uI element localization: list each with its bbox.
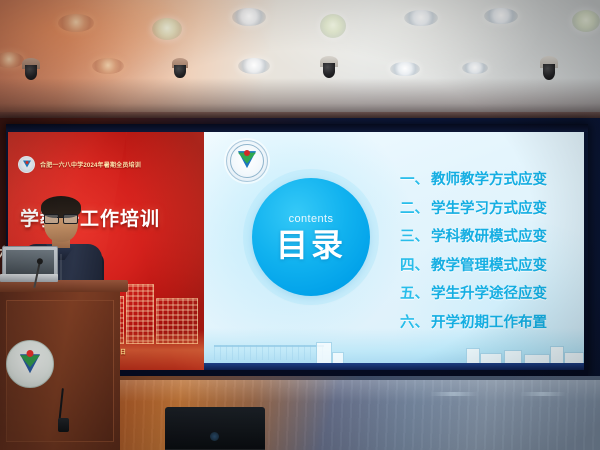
red-slide-header-text: 合肥一六八中学2024年暑期全员培训 <box>40 160 141 169</box>
ceiling-light <box>462 62 488 74</box>
agenda-item-text: 教学管理模式应变 <box>431 254 547 275</box>
agenda-item-text: 学科教研模式应变 <box>431 225 547 246</box>
red-slide-header: 合肥一六八中学2024年暑期全员培训 <box>18 156 141 173</box>
floor-reflection <box>520 392 566 396</box>
school-emblem-icon <box>226 140 268 182</box>
agenda-item-number: 四、 <box>400 254 429 275</box>
ceiling-light <box>484 8 518 24</box>
ceiling-camera-icon <box>320 56 338 78</box>
ceiling-light <box>404 10 438 26</box>
blue-contents-slide: contents 目录 一、 教师教学方式应变 二、 学生学习方式应变 三、 学… <box>204 132 584 370</box>
skyline-bridge <box>214 345 324 360</box>
contents-english-label: contents <box>289 213 334 225</box>
agenda-item: 二、 学生学习方式应变 <box>400 197 584 218</box>
floor-reflection <box>430 392 478 396</box>
school-emblem-icon <box>6 340 54 388</box>
contents-chinese-label: 目录 <box>276 229 346 261</box>
ceiling-light <box>390 62 420 76</box>
ceiling-camera-icon <box>172 58 188 78</box>
auditorium-scene: 合肥一六八中学2024年暑期全员培训 学教研工作培训 2024年8月21日 co… <box>0 0 600 450</box>
floor-cable-box <box>58 418 69 432</box>
school-emblem-icon <box>18 156 35 173</box>
agenda-item: 三、 学科教研模式应变 <box>400 225 584 246</box>
ceiling-light <box>238 58 270 74</box>
agenda-item-number: 二、 <box>400 197 429 218</box>
agenda-item: 一、 教师教学方式应变 <box>400 168 584 189</box>
ceiling-light <box>572 10 600 32</box>
stage-floor-monitor <box>165 407 265 450</box>
blue-slide-bottom-band <box>204 363 584 370</box>
ceiling-light <box>320 14 346 38</box>
agenda-item-text: 学生学习方式应变 <box>431 197 547 218</box>
presenter-placket <box>60 254 62 280</box>
ceiling-light <box>232 8 266 26</box>
ceiling-light <box>152 18 182 40</box>
contents-circle: contents 目录 <box>252 178 370 296</box>
agenda-item-number: 五、 <box>400 282 429 303</box>
agenda-item-text: 教师教学方式应变 <box>431 168 547 189</box>
agenda-item-number: 三、 <box>400 225 429 246</box>
ceiling-camera-icon <box>22 58 40 80</box>
glasses-icon <box>44 214 78 222</box>
agenda-item: 四、 教学管理模式应变 <box>400 254 584 275</box>
ceiling-light <box>92 58 124 74</box>
agenda-item-text: 学生升学途径应变 <box>431 282 547 303</box>
screen-top-frame <box>6 124 588 132</box>
ceiling-light <box>58 14 94 32</box>
ceiling-camera-icon <box>540 56 558 80</box>
agenda-item: 五、 学生升学途径应变 <box>400 282 584 303</box>
agenda-item-number: 一、 <box>400 168 429 189</box>
agenda-list: 一、 教师教学方式应变 二、 学生学习方式应变 三、 学科教研模式应变 四、 教… <box>400 168 584 339</box>
presenter-laptop-base <box>0 274 58 282</box>
